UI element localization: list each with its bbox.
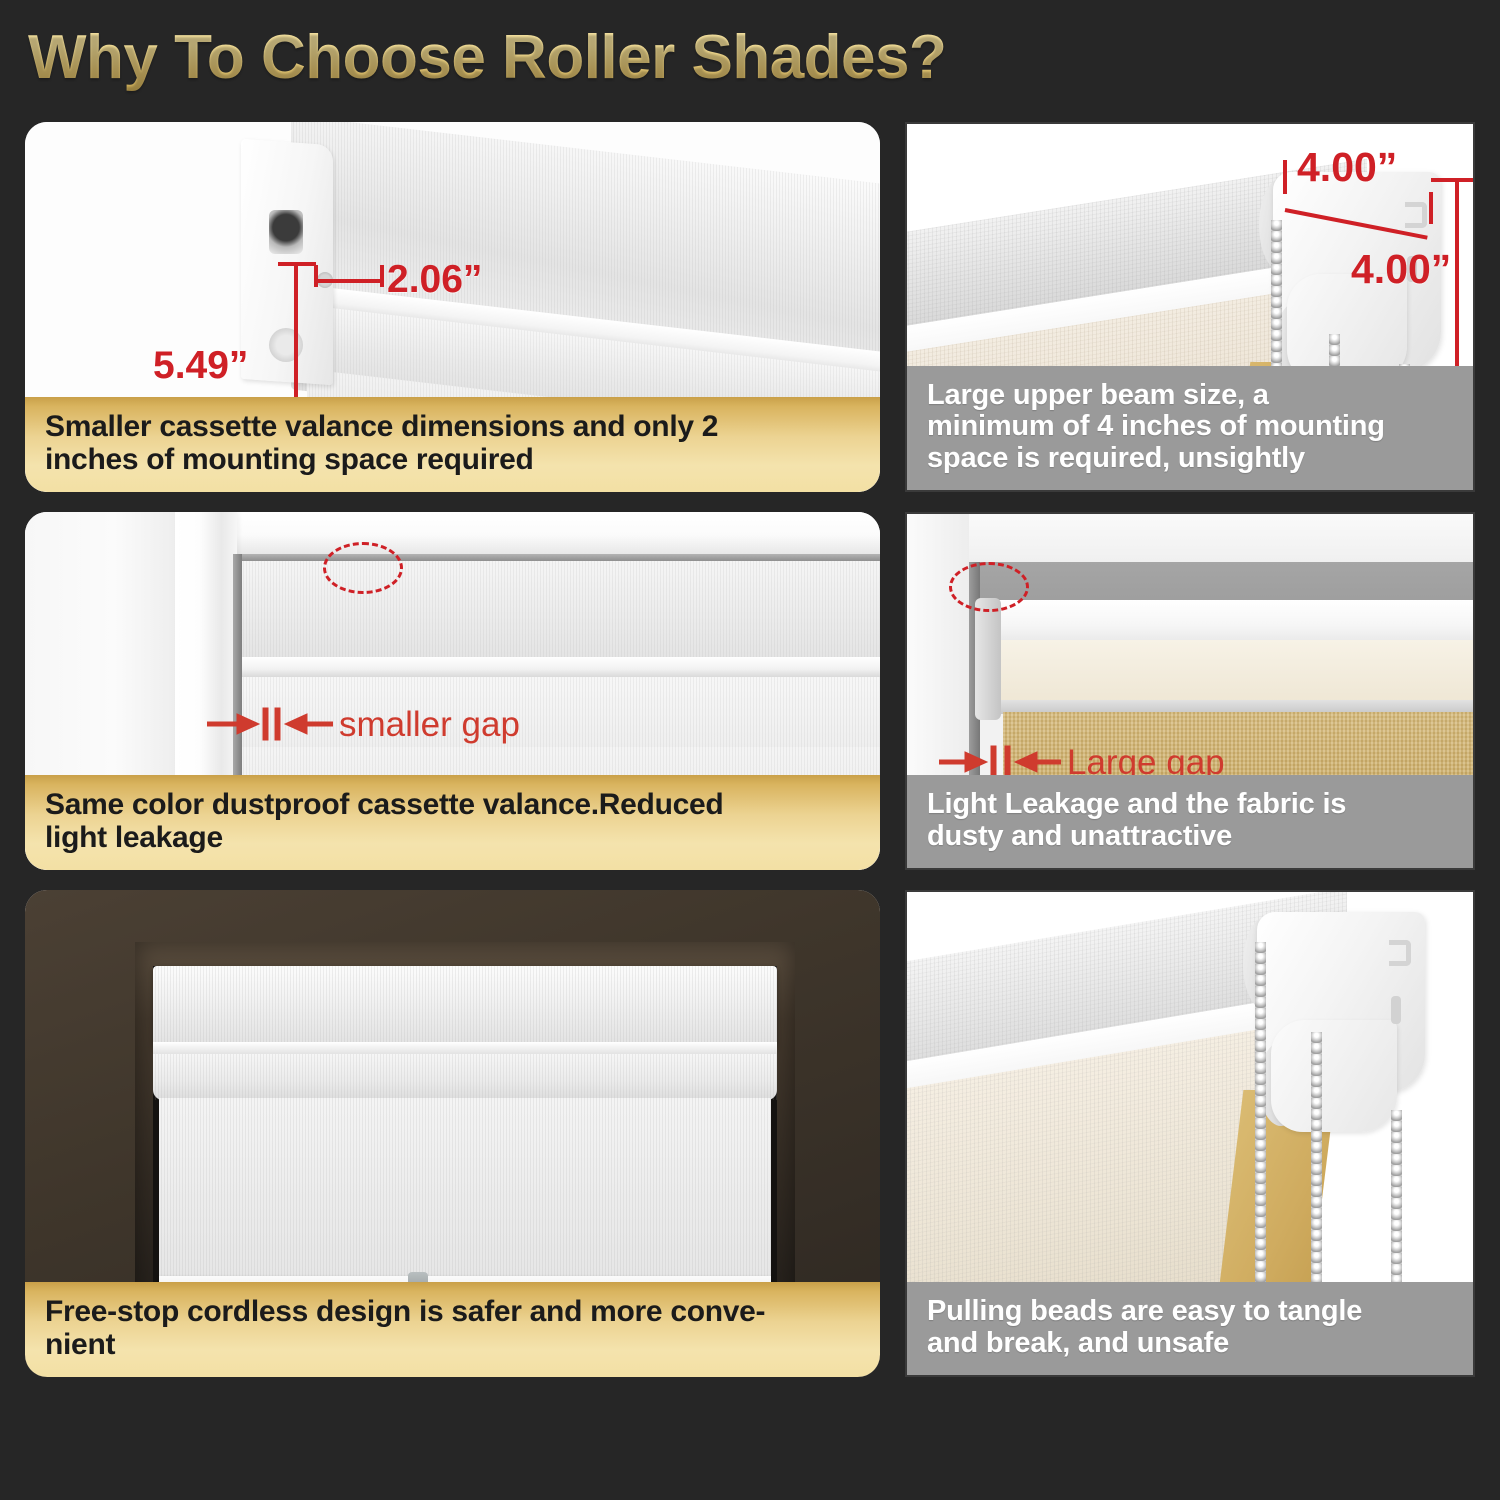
infographic-root: Why To Choose Roller Shades? 2.06” xyxy=(0,0,1500,1500)
caption-line: Same color dustproof cassette valance.Re… xyxy=(45,789,862,821)
caption-mid-left: Same color dustproof cassette valance.Re… xyxy=(25,775,880,870)
cream-fabric-band xyxy=(979,640,1473,702)
dim-width-tick-right xyxy=(1429,192,1433,224)
bracket-notch-upper xyxy=(1389,940,1411,966)
bracket-notch-lower xyxy=(1391,996,1401,1024)
shade-fabric xyxy=(159,1098,771,1278)
caption-mid-right: Light Leakage and the fabric is dusty an… xyxy=(907,775,1473,868)
panel-mid-right: Large gap Light Leakage and the fabric i… xyxy=(905,512,1475,870)
wall-surface xyxy=(907,514,1473,562)
panel-top-left: 2.06” 5.49” Smaller cassette valance dim… xyxy=(25,122,880,492)
caption-bottom-right: Pulling beads are easy to tangle and bre… xyxy=(907,1282,1473,1375)
caption-line: light leakage xyxy=(45,822,862,854)
caption-line: space is required, unsightly xyxy=(927,443,1455,474)
caption-line: Smaller cassette valance dimensions and … xyxy=(45,411,862,443)
panel-bottom-right: Pulling beads are easy to tangle and bre… xyxy=(905,890,1475,1377)
dim-width-label: 2.06” xyxy=(387,258,482,302)
bracket-notch-upper xyxy=(1405,202,1427,228)
caption-bottom-left: Free-stop cordless design is safer and m… xyxy=(25,1282,880,1377)
bead-chain-left xyxy=(1255,942,1266,1322)
dim-height-tick-top xyxy=(1431,178,1473,182)
highlight-circle-icon xyxy=(323,542,403,594)
page-title: Why To Choose Roller Shades? xyxy=(28,22,946,93)
highlight-circle-icon xyxy=(949,562,1029,612)
dim-width-tick-left xyxy=(314,265,318,287)
caption-line: Large upper beam size, a xyxy=(927,380,1455,411)
caption-line: Free-stop cordless design is safer and m… xyxy=(45,1296,862,1328)
end-cap-slot xyxy=(269,210,303,254)
cassette-rail xyxy=(241,657,880,677)
dim-width-line xyxy=(314,279,384,283)
dim-height-tick-top xyxy=(278,262,316,266)
panel-top-right: 4.00” 4.00” Large upper beam size, a min… xyxy=(905,122,1475,492)
caption-top-right: Large upper beam size, a minimum of 4 in… xyxy=(907,366,1473,490)
dim-height-line xyxy=(1455,178,1459,370)
caption-top-left: Smaller cassette valance dimensions and … xyxy=(25,397,880,492)
caption-line: inches of mounting space required xyxy=(45,444,862,476)
dim-width-tick-left xyxy=(1283,160,1287,194)
cassette-valance xyxy=(153,966,777,1046)
dim-height-label: 5.49” xyxy=(153,344,248,388)
dim-width-tick-right xyxy=(380,265,384,287)
caption-line: Pulling beads are easy to tangle xyxy=(927,1296,1455,1327)
caption-line: dusty and unattractive xyxy=(927,821,1455,852)
dim-width-label: 4.00” xyxy=(1297,144,1397,191)
dim-height-label: 4.00” xyxy=(1351,246,1451,293)
bead-chain-middle xyxy=(1311,1032,1322,1324)
mounting-bracket-lower xyxy=(1271,1020,1397,1132)
panel-bottom-left: Free-stop cordless design is safer and m… xyxy=(25,890,880,1377)
caption-line: Light Leakage and the fabric is xyxy=(927,789,1455,820)
gap-label: smaller gap xyxy=(339,705,520,745)
panel-mid-left: smaller gap Same color dustproof cassett… xyxy=(25,512,880,870)
caption-line: and break, and unsafe xyxy=(927,1328,1455,1359)
caption-line: nient xyxy=(45,1329,862,1361)
valance-roller xyxy=(153,1054,777,1100)
window-frame-top xyxy=(175,512,880,554)
mounting-bracket xyxy=(975,598,1001,720)
caption-line: minimum of 4 inches of mounting xyxy=(927,411,1455,442)
